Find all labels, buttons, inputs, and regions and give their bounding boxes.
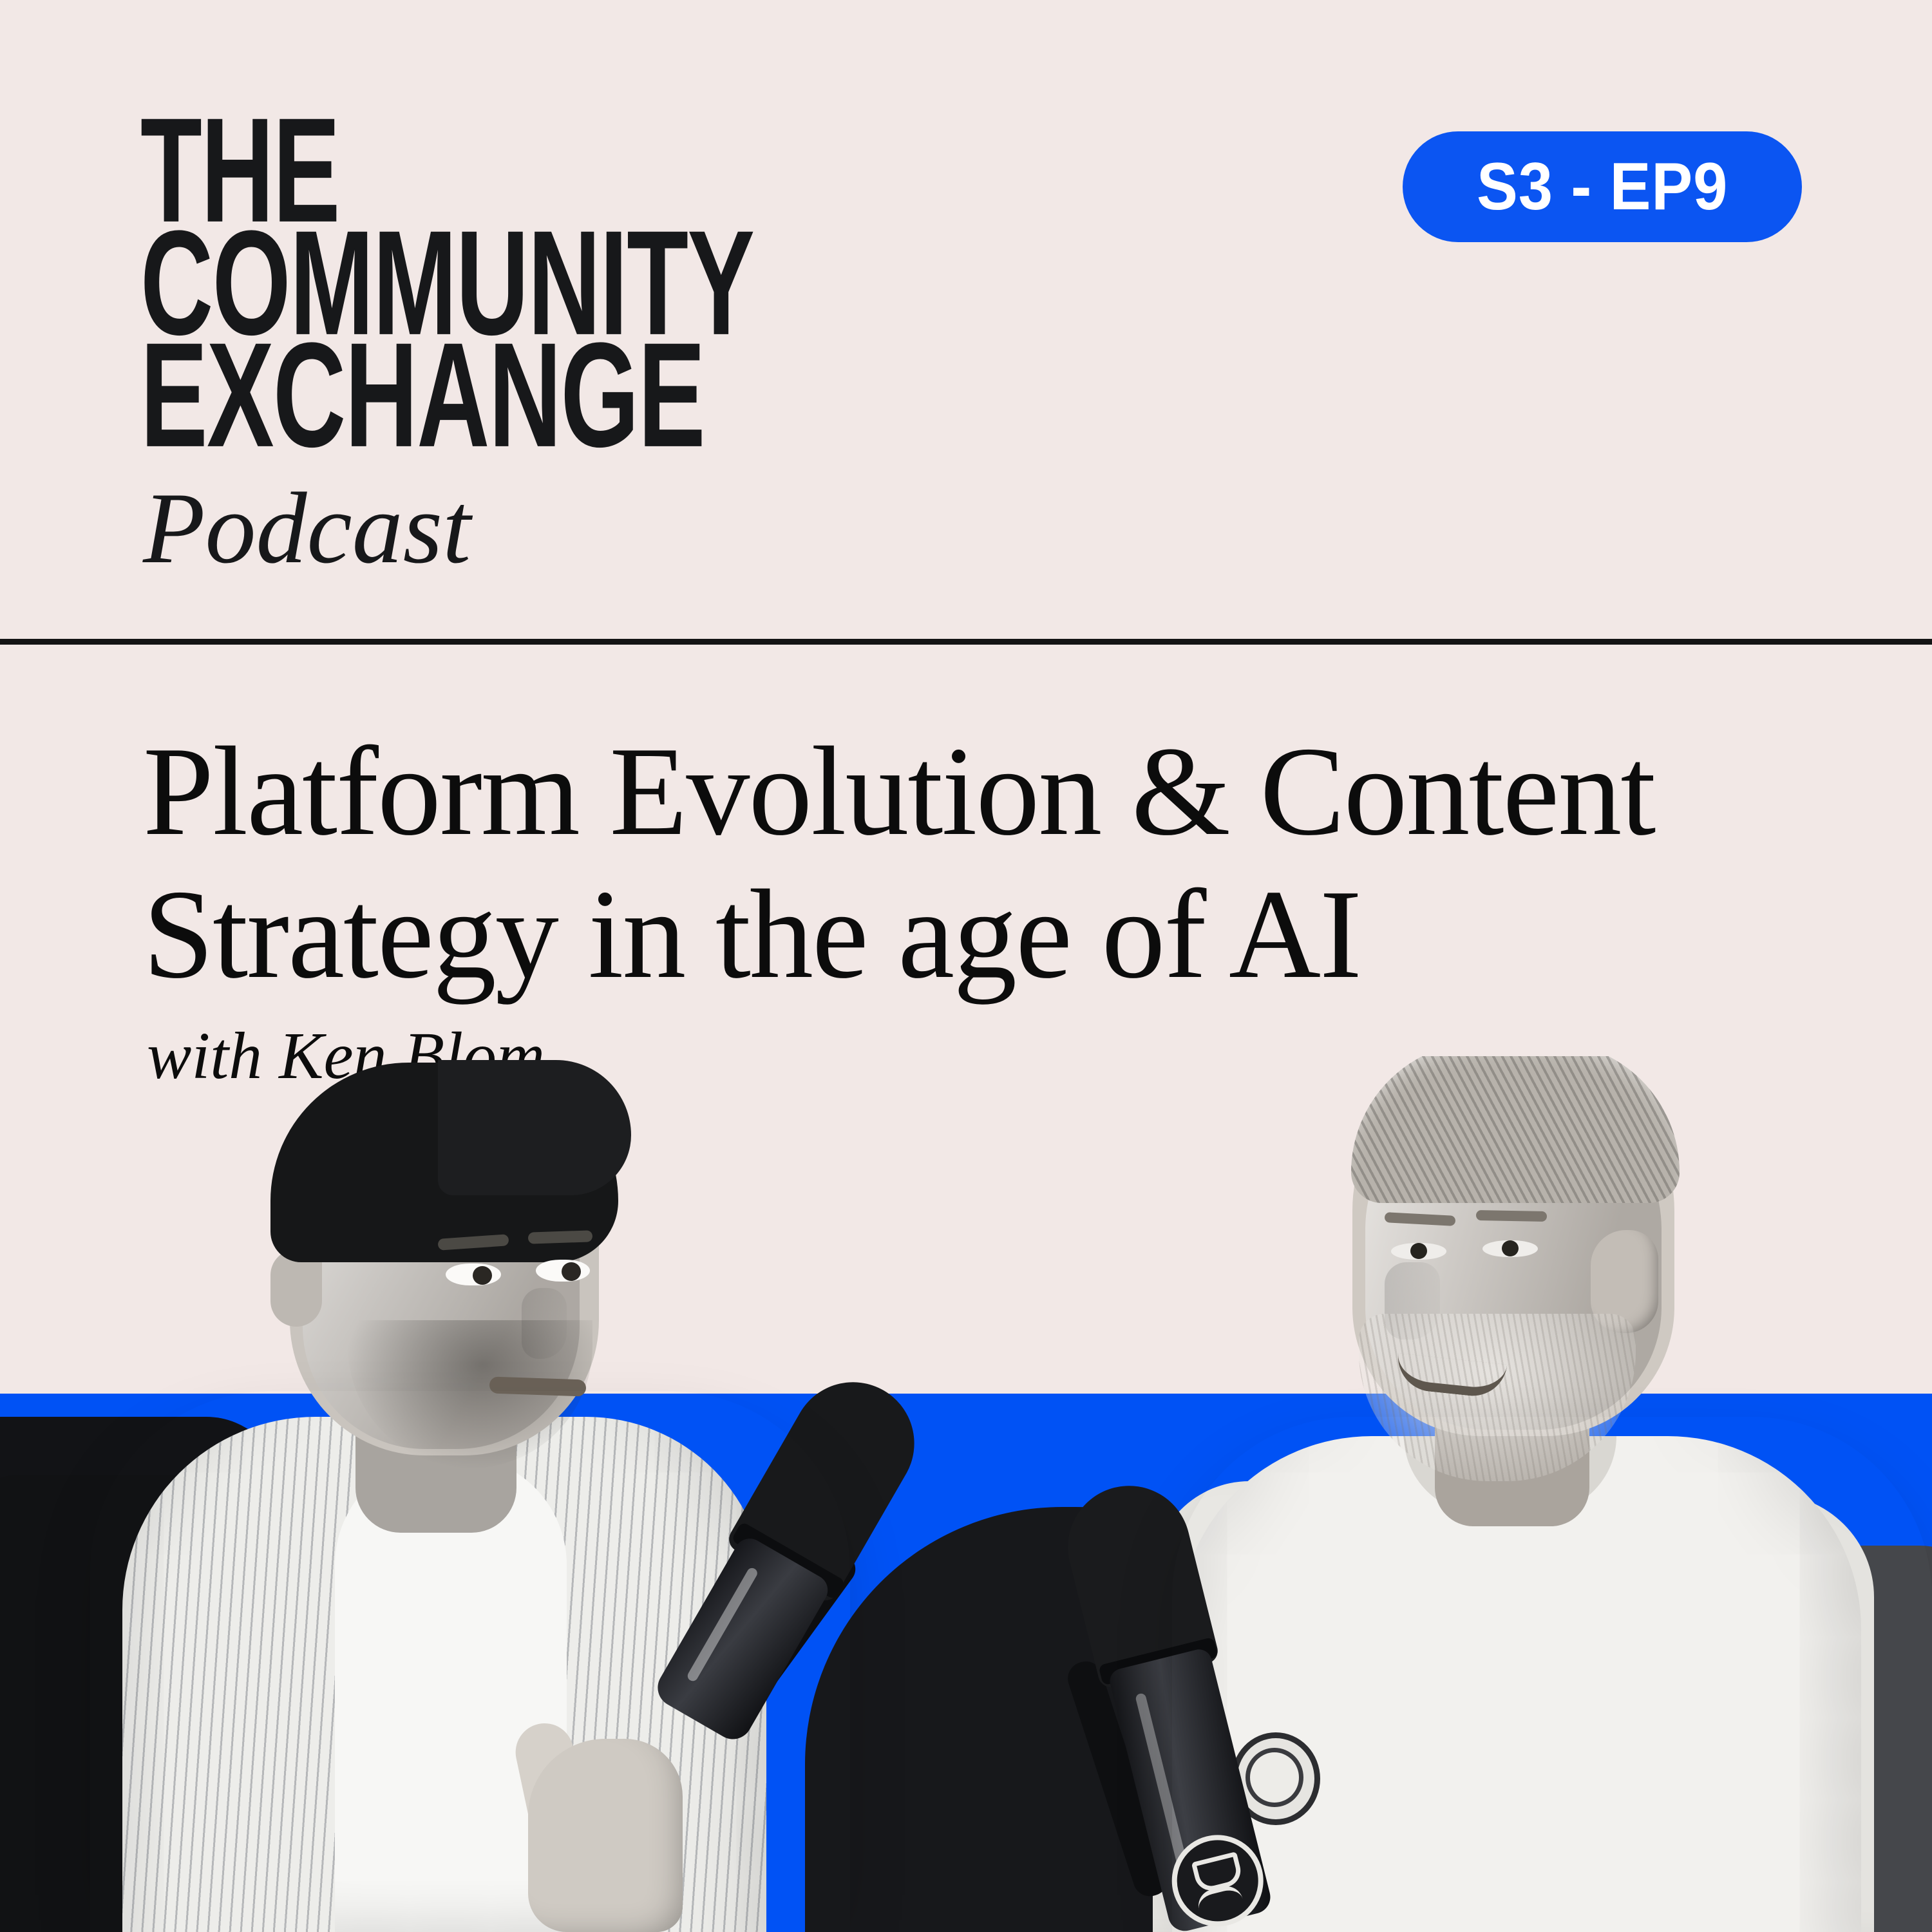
host-photo-collage — [0, 1056, 1932, 1932]
host-left-mouth — [489, 1376, 587, 1396]
host-right-hair-texture — [1351, 1056, 1680, 1203]
host-left-hair-swoop — [438, 1060, 631, 1195]
episode-title-line-1: Platform Evolution & Content — [143, 720, 1792, 863]
host-left-pupil-right — [562, 1262, 581, 1281]
host-left-eyebrow-right — [528, 1230, 593, 1244]
host-left-hand — [528, 1739, 683, 1932]
logo-subtitle-podcast: Podcast — [143, 478, 471, 580]
episode-badge: S3 - EP9 — [1403, 131, 1802, 242]
logo-line-exchange: EXCHANGE — [140, 333, 810, 458]
host-right-pupil-left — [1410, 1243, 1427, 1259]
host-left-pupil-left — [473, 1266, 492, 1285]
host-left — [77, 1056, 850, 1932]
podcast-cover-art: THE COMMUNITY EXCHANGE Podcast S3 - EP9 … — [0, 0, 1932, 1932]
host-right — [1082, 1056, 1932, 1932]
host-right-pupil-right — [1502, 1240, 1519, 1256]
episode-title: Platform Evolution & Content Strategy in… — [143, 720, 1792, 1006]
episode-title-line-2: Strategy in the age of AI — [143, 863, 1792, 1006]
host-right-eyebrow-right — [1476, 1210, 1547, 1222]
podcast-logo: THE COMMUNITY EXCHANGE — [140, 108, 978, 439]
header-divider — [0, 639, 1932, 645]
episode-badge-label: S3 - EP9 — [1477, 149, 1728, 225]
